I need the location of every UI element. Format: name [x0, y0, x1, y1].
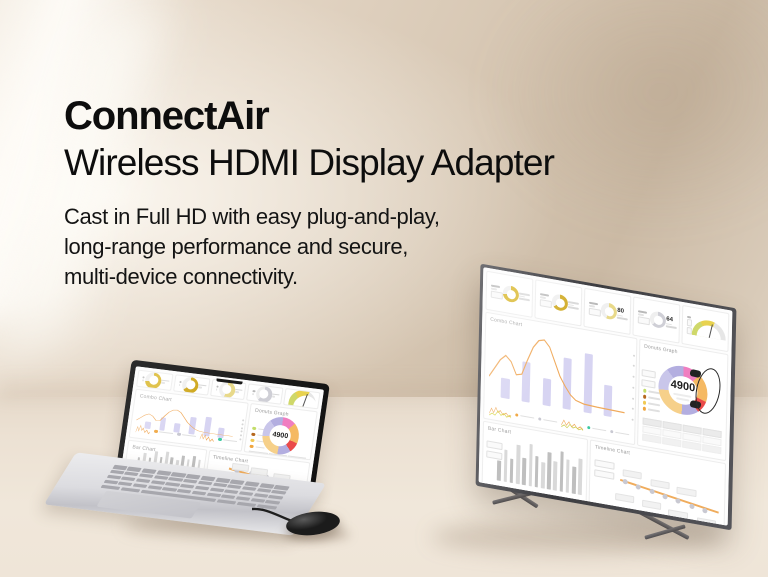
subheadline-line-3: multi-device connectivity. — [64, 262, 684, 292]
timeline-controls[interactable] — [594, 459, 615, 483]
timeline-node — [703, 508, 708, 514]
dashboard-tv[interactable]: 80 64 — [479, 267, 733, 526]
donut-chart-plot: 4900 — [245, 414, 315, 458]
donut-chart-card[interactable]: Donuts Graph 4900 — [244, 403, 318, 460]
brand-name: ConnectAir — [64, 94, 684, 138]
kpi-card-gauge[interactable] — [681, 305, 729, 352]
timeline-node — [623, 479, 628, 485]
timeline-node — [676, 498, 681, 504]
y-axis-ticks — [631, 354, 634, 421]
page-title: Wireless HDMI Display Adapter — [64, 140, 684, 185]
donut-ring: 4900 — [260, 415, 301, 456]
timeline-label — [615, 493, 635, 503]
timeline-label — [668, 510, 688, 520]
donut-icon — [144, 371, 162, 389]
timeline-label — [642, 500, 662, 510]
timeline-label — [696, 517, 716, 526]
television-display: 80 64 — [418, 268, 718, 568]
sparkline-icon — [135, 423, 151, 436]
sparkline-icon — [489, 405, 511, 420]
donut-icon — [650, 311, 666, 330]
gauge-icon — [692, 318, 726, 341]
y-axis-ticks — [240, 420, 245, 441]
timeline-node — [636, 484, 641, 490]
timeline-node — [689, 503, 694, 509]
timeline-node — [663, 493, 668, 499]
donut-icon — [601, 302, 617, 321]
timeline-label — [677, 487, 697, 497]
donut-icon — [218, 381, 236, 399]
sparkline-icon — [561, 417, 583, 432]
donut-icon — [181, 376, 199, 394]
kpi-card[interactable]: 64 — [632, 296, 680, 343]
timeline-label — [650, 479, 670, 489]
subheadline: Cast in Full HD with easy plug-and-play,… — [64, 202, 684, 292]
product-marketing-image: ConnectAir Wireless HDMI Display Adapter… — [0, 0, 768, 577]
marketing-copy: ConnectAir Wireless HDMI Display Adapter… — [64, 94, 684, 292]
donut-center-value: 4900 — [272, 431, 289, 440]
subheadline-line-1: Cast in Full HD with easy plug-and-play, — [64, 202, 684, 232]
timeline-label — [622, 469, 642, 479]
donut-icon — [552, 294, 568, 313]
gauge-icon — [288, 389, 317, 409]
kpi-card[interactable]: 80 — [583, 288, 631, 335]
subheadline-line-2: long-range performance and secure, — [64, 232, 684, 262]
timeline-node — [649, 489, 654, 495]
tv-screen[interactable]: 80 64 — [479, 267, 733, 526]
sparkline-icon — [199, 431, 215, 444]
donut-icon — [255, 385, 273, 403]
